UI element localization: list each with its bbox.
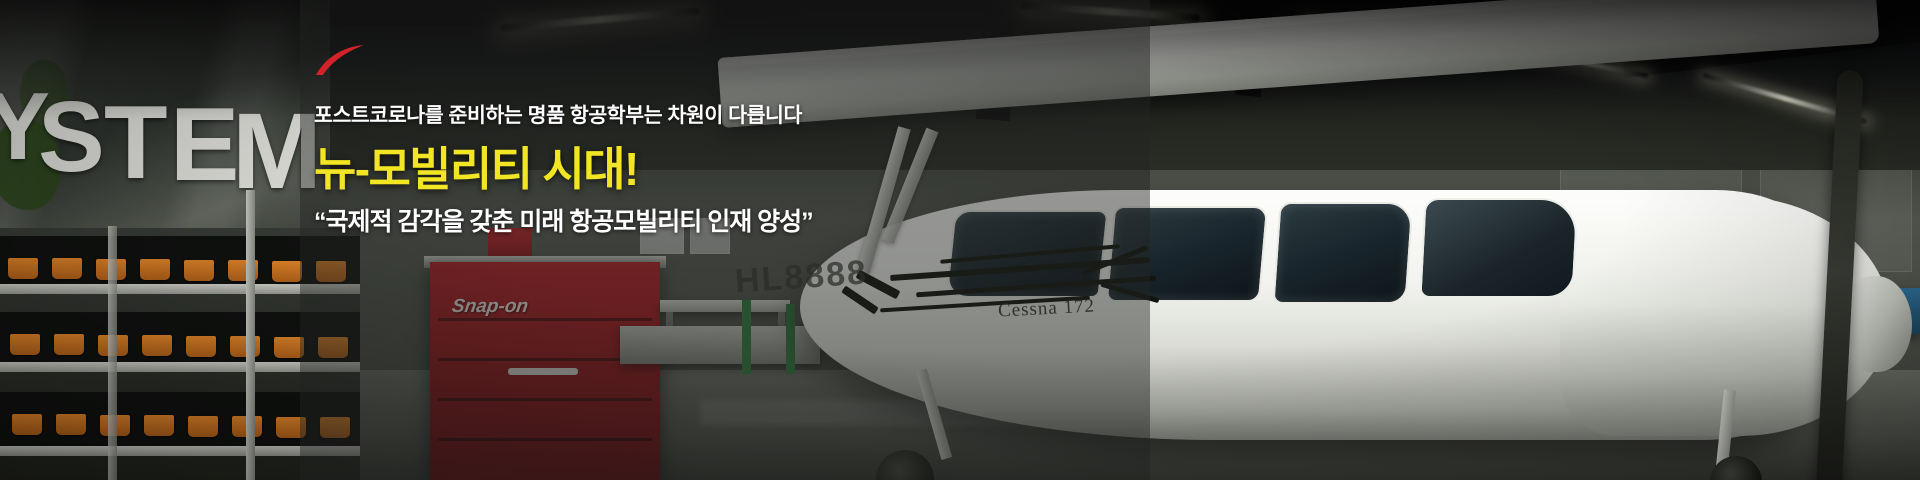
banner-copy-block: 포스트코로나를 준비하는 명품 항공학부는 차원이 다릅니다 뉴-모빌리티 시대… (314, 44, 874, 237)
red-swoosh-icon (314, 44, 372, 78)
banner-quote: “국제적 감각을 갖춘 미래 항공모빌리티 인재 양성” (314, 207, 874, 237)
red-swoosh-logo-icon (314, 44, 372, 78)
banner-headline: 뉴-모빌리티 시대! (314, 143, 874, 196)
hero-banner: Y S T E M (0, 0, 1920, 480)
banner-subtitle: 포스트코로나를 준비하는 명품 항공학부는 차원이 다릅니다 (314, 104, 874, 129)
